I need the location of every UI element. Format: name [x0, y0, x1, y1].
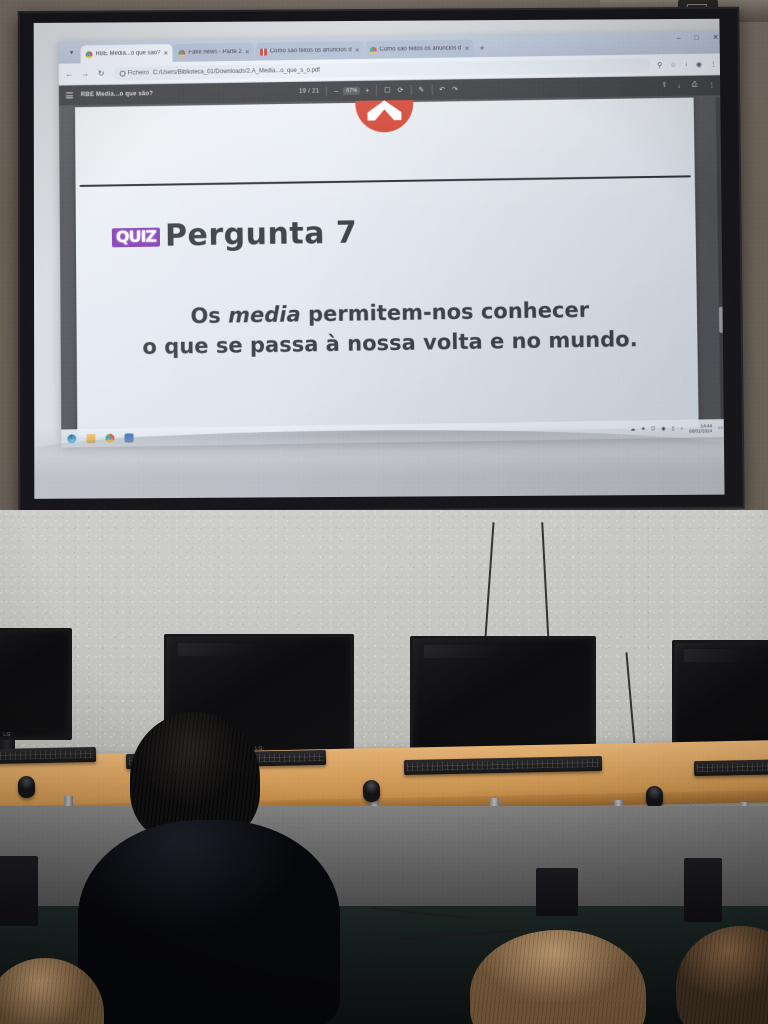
rotate-icon[interactable]: ⟳	[397, 86, 403, 94]
network-icon[interactable]: ◉	[661, 426, 665, 432]
divider	[376, 86, 377, 96]
pdf-document-title: RBE Media...o que são?	[81, 91, 153, 98]
highlight-icon[interactable]: ✎	[418, 86, 424, 94]
scheme-label: Ficheiro	[128, 70, 149, 76]
question-part-2: permitem-nos conhecer	[301, 298, 590, 327]
quiz-badge: QUIZ	[112, 227, 160, 247]
divider	[431, 85, 432, 95]
more-options-icon[interactable]: ⋮	[708, 81, 715, 89]
omnibox-actions: ⚲ ☆ ↓ ◉ ⋮	[657, 60, 717, 69]
monitor-screen: LG	[0, 628, 72, 740]
projection-surface: ▾ RBE Media...o que são? ✕ Fake news - P…	[34, 19, 725, 499]
edge-icon[interactable]	[67, 434, 76, 443]
divider	[410, 85, 411, 95]
taskbar-clock[interactable]: 14:44 08/01/2024	[689, 423, 712, 434]
print-icon[interactable]: ⎙	[692, 82, 698, 90]
red-book-icon	[260, 48, 267, 55]
student-body-center	[78, 820, 340, 1024]
url-text: C:/Users/Biblioteca_01/Downloads/2.A_Med…	[153, 67, 320, 76]
chrome-icon	[86, 51, 93, 58]
monitor-brand: LG	[3, 732, 10, 738]
tab-title: RBE Media...o que são?	[96, 50, 161, 57]
browser-window[interactable]: ▾ RBE Media...o que são? ✕ Fake news - P…	[59, 31, 725, 447]
scrollbar-thumb[interactable]	[719, 306, 725, 332]
page-indicator: 19 / 21	[299, 88, 319, 94]
question-part-1: Os	[190, 304, 228, 329]
redo-icon[interactable]: ↷	[452, 85, 458, 93]
divider	[326, 86, 327, 96]
info-icon	[120, 70, 126, 76]
question-text: Os media permitem-nos conhecer o que se …	[106, 294, 673, 364]
bluetooth-icon[interactable]: ⎋	[651, 426, 655, 432]
pdf-right-controls: ⍒ ↓ ⎙ ⋮	[662, 75, 715, 96]
slide-divider	[80, 175, 691, 187]
onedrive-icon[interactable]: ⎈	[641, 426, 645, 432]
zoom-out-button[interactable]: –	[334, 88, 338, 95]
close-icon[interactable]: ✕	[163, 50, 168, 57]
projection-screen: ▾ RBE Media...o que são? ✕ Fake news - P…	[18, 7, 745, 513]
mouse	[646, 786, 664, 809]
sidebar-icon[interactable]: ⍒	[662, 82, 666, 90]
pdf-page-stage[interactable]: QUIZ Pergunta 7 Os media permitem-nos co…	[59, 95, 725, 447]
close-icon[interactable]: ✕	[245, 48, 250, 55]
question-emphasis: media	[228, 302, 301, 327]
file-scheme-chip: Ficheiro	[120, 70, 149, 76]
monitor-3: LG	[410, 636, 596, 754]
tab-title: Como são feitos os anúncios d	[380, 45, 462, 52]
zoom-in-button[interactable]: +	[365, 87, 369, 94]
system-tray: ☁ ⎈ ⎋ ◉ ▯ ♪ 14:44 08/01/2024 ▭	[630, 423, 723, 435]
clock-date: 08/01/2024	[689, 428, 712, 434]
question-heading: Pergunta 7	[165, 219, 357, 252]
new-tab-button[interactable]: +	[474, 41, 489, 57]
cloud-icon[interactable]: ☁	[630, 426, 635, 432]
monitor-4: LG	[672, 640, 768, 756]
back-icon[interactable]: ←	[65, 69, 74, 78]
chrome-icon	[370, 46, 377, 53]
taskbar-apps	[67, 433, 133, 443]
close-icon[interactable]: ✕	[464, 45, 469, 52]
browser-tab-4[interactable]: Como são feitos os anúncios d ✕	[365, 39, 474, 59]
mouse	[18, 776, 36, 799]
sidebar-toggle-icon[interactable]	[66, 92, 73, 98]
window-controls: – □ ✕	[677, 34, 719, 43]
forward-icon[interactable]: →	[81, 69, 90, 78]
maximize-icon[interactable]: □	[694, 34, 698, 41]
tab-search-chevron-icon[interactable]: ▾	[65, 46, 79, 62]
browser-tab-2[interactable]: Fake news - Parte 2 ✕	[173, 43, 254, 62]
pdf-center-controls: 19 / 21 – 67% + ☐ ⟳ ✎ ↶	[299, 79, 458, 101]
monitor-screen: LG	[410, 636, 596, 754]
mouse	[363, 780, 381, 803]
search-icon[interactable]: ⚲	[657, 61, 662, 69]
profile-icon[interactable]: ◉	[696, 60, 702, 68]
reload-icon[interactable]: ↻	[97, 69, 106, 78]
pdf-scrollbar[interactable]	[716, 97, 725, 435]
quiz-heading-row: QUIZ Pergunta 7	[112, 219, 358, 253]
store-icon[interactable]	[124, 433, 133, 442]
chrome-icon	[178, 49, 185, 56]
red-arrow-logo-icon	[355, 95, 413, 133]
undo-icon[interactable]: ↶	[439, 86, 445, 94]
download-icon[interactable]: ↓	[677, 82, 681, 89]
quiz-slide: QUIZ Pergunta 7 Os media permitem-nos co…	[75, 98, 699, 438]
show-desktop-icon[interactable]: ▭	[718, 425, 723, 431]
volume-icon[interactable]: ♪	[680, 426, 683, 432]
monitor-1: LG	[0, 628, 72, 740]
chrome-icon[interactable]	[105, 433, 114, 442]
keyboard	[694, 759, 768, 776]
tab-title: Fake news - Parte 2	[188, 49, 242, 56]
classroom-photo: ▾ RBE Media...o que são? ✕ Fake news - P…	[0, 0, 768, 1024]
close-window-icon[interactable]: ✕	[713, 34, 719, 42]
chrome-menu-icon[interactable]: ⋮	[710, 60, 717, 68]
zoom-level: 67%	[343, 87, 360, 95]
bookmark-star-icon[interactable]: ☆	[670, 61, 676, 69]
question-line-2: o que se passa à nossa volta e no mundo.	[142, 328, 637, 360]
keyboard	[0, 747, 96, 764]
tab-title: Como são feitos os anúncios d	[270, 47, 352, 54]
monitor-screen: LG	[672, 640, 768, 756]
browser-tab-1[interactable]: RBE Media...o que são? ✕	[81, 44, 173, 63]
zoom-controls: – 67% +	[334, 87, 369, 96]
close-icon[interactable]: ✕	[355, 47, 360, 54]
fit-page-icon[interactable]: ☐	[384, 86, 390, 94]
minimize-icon[interactable]: –	[677, 35, 681, 42]
downloads-icon[interactable]: ↓	[684, 61, 688, 68]
chat-icon[interactable]: ▯	[672, 426, 675, 432]
file-explorer-icon[interactable]	[86, 433, 95, 442]
browser-tab-3[interactable]: Como são feitos os anúncios d ✕	[255, 41, 364, 61]
